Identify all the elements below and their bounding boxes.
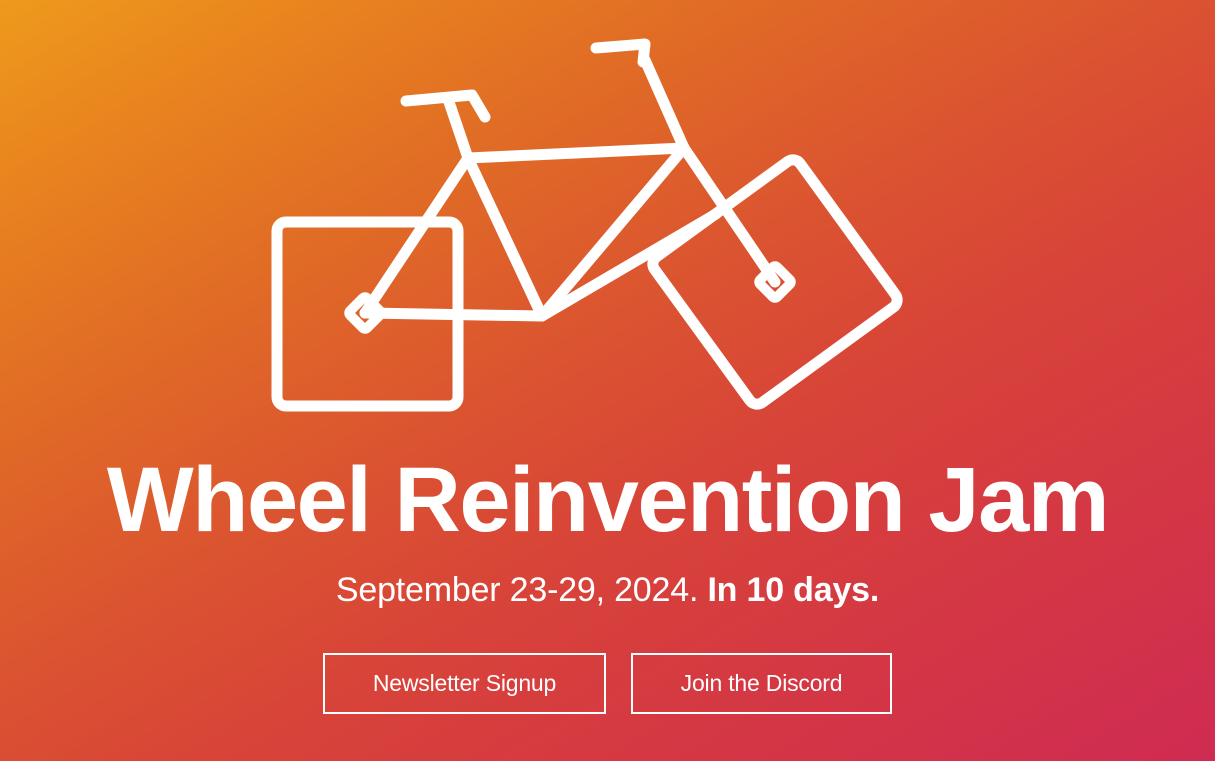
frame-rear-lower-stay	[542, 214, 716, 316]
newsletter-signup-button[interactable]: Newsletter Signup	[323, 653, 606, 714]
frame-rear-stay	[684, 148, 775, 282]
frame-seat-post	[645, 60, 684, 148]
hero-content: Wheel Reinvention Jam September 23-29, 2…	[0, 440, 1215, 714]
page-title: Wheel Reinvention Jam	[0, 454, 1215, 548]
frame-down-tube	[468, 158, 542, 316]
hero-subtitle: September 23-29, 2024. In 10 days.	[0, 570, 1215, 611]
frame-chain-stay	[365, 313, 542, 316]
frame-top-tube	[468, 148, 684, 158]
frame-head-tube	[448, 99, 468, 158]
square-wheel-bicycle-logo	[0, 0, 1215, 440]
cta-button-row: Newsletter Signup Join the Discord	[0, 653, 1215, 714]
jam-countdown: In 10 days.	[707, 571, 879, 609]
join-discord-button[interactable]: Join the Discord	[631, 653, 892, 714]
hero-banner: Wheel Reinvention Jam September 23-29, 2…	[0, 0, 1215, 761]
logo-container	[0, 0, 1215, 440]
jam-date-range: September 23-29, 2024.	[336, 571, 698, 609]
frame-seat-tube	[542, 148, 684, 316]
saddle-icon	[596, 44, 645, 62]
